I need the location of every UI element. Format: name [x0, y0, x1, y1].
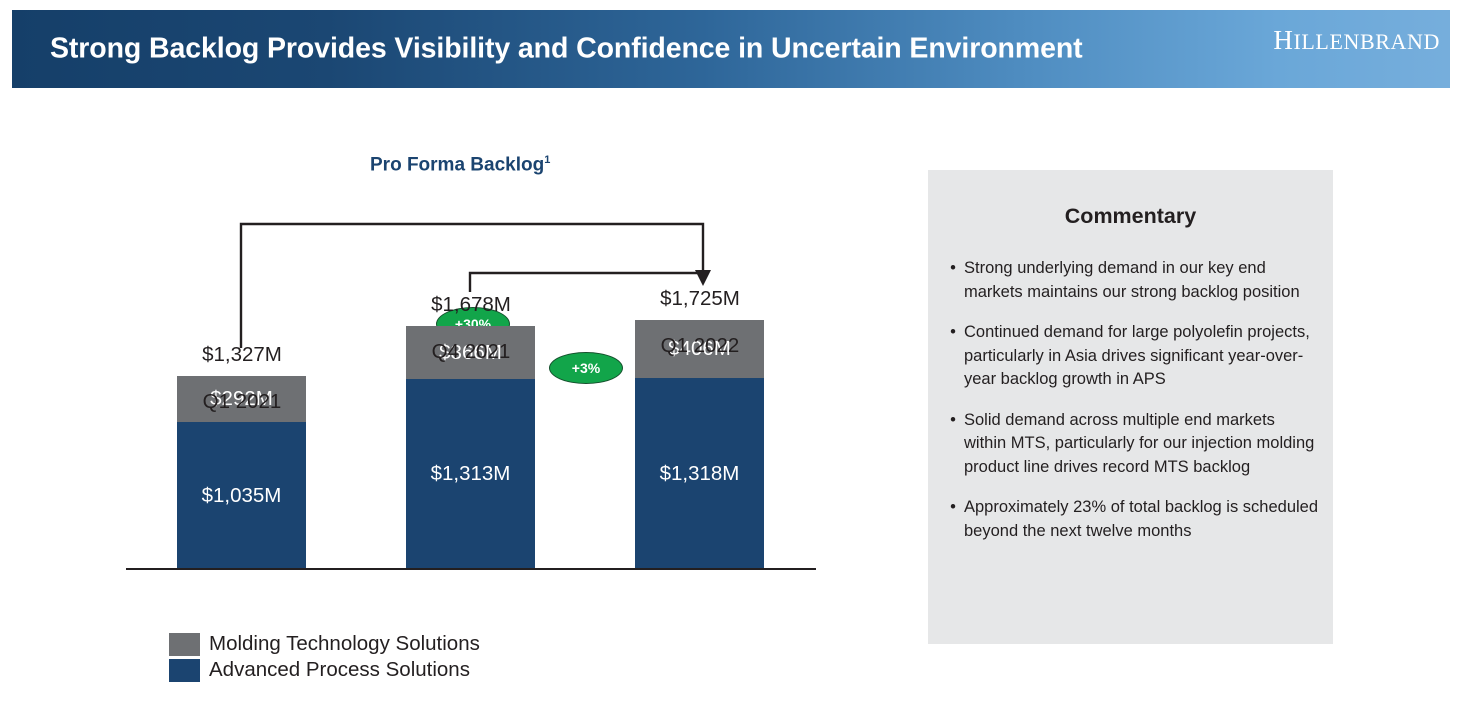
legend-swatch-mts: [169, 633, 200, 656]
logo-rest: ILLENBRAND: [1293, 29, 1440, 54]
logo-initial: H: [1273, 25, 1293, 55]
commentary-panel: Commentary • Strong underlying demand in…: [928, 170, 1333, 644]
legend-item-aps[interactable]: Advanced Process Solutions: [169, 658, 480, 682]
growth-badge-qoq: +3%: [549, 352, 623, 384]
list-item: • Approximately 23% of total backlog is …: [942, 496, 1321, 543]
chart-x-axis: [126, 568, 816, 570]
page-title: Strong Backlog Provides Visibility and C…: [50, 33, 1083, 66]
bar-q4-2021[interactable]: $1,678M $366M $1,313M Q4 2021: [406, 326, 535, 569]
bar-segment-aps-q4-2021: $1,313M: [406, 379, 535, 569]
commentary-bullet-4: Approximately 23% of total backlog is sc…: [964, 496, 1321, 543]
bar-segment-aps-q1-2021: $1,035M: [177, 422, 306, 569]
hillenbrand-logo: HILLENBRAND: [1273, 27, 1440, 54]
list-item: • Strong underlying demand in our key en…: [942, 257, 1321, 304]
bar-category-label-q4-2021: Q4 2021: [391, 340, 551, 364]
commentary-bullet-3: Solid demand across multiple end markets…: [964, 409, 1321, 480]
legend-label-aps: Advanced Process Solutions: [209, 658, 470, 682]
bar-total-label-q1-2022: $1,725M: [620, 287, 780, 311]
chart-legend: Molding Technology Solutions Advanced Pr…: [169, 632, 480, 684]
bullet-icon: •: [942, 496, 964, 543]
bar-category-label-q1-2022: Q1 2022: [620, 334, 780, 358]
bar-category-label-q1-2021: Q1 2021: [162, 390, 322, 414]
bullet-icon: •: [942, 409, 964, 480]
commentary-bullet-2: Continued demand for large polyolefin pr…: [964, 321, 1321, 392]
commentary-bullet-list: • Strong underlying demand in our key en…: [942, 257, 1321, 560]
bullet-icon: •: [942, 321, 964, 392]
legend-item-mts[interactable]: Molding Technology Solutions: [169, 632, 480, 656]
bar-q1-2022[interactable]: $1,725M $406M $1,318M Q1 2022: [635, 320, 764, 569]
list-item: • Solid demand across multiple end marke…: [942, 409, 1321, 480]
slide-header-band: Strong Backlog Provides Visibility and C…: [12, 10, 1450, 88]
legend-label-mts: Molding Technology Solutions: [209, 632, 480, 656]
legend-swatch-aps: [169, 659, 200, 682]
bar-total-label-q1-2021: $1,327M: [162, 343, 322, 367]
bullet-icon: •: [942, 257, 964, 304]
commentary-bullet-1: Strong underlying demand in our key end …: [964, 257, 1321, 304]
commentary-heading: Commentary: [928, 204, 1333, 229]
bar-segment-aps-q1-2022: $1,318M: [635, 378, 764, 569]
bar-q1-2021[interactable]: $1,327M $292M $1,035M Q1 2021: [177, 376, 306, 569]
list-item: • Continued demand for large polyolefin …: [942, 321, 1321, 392]
bar-total-label-q4-2021: $1,678M: [391, 293, 551, 317]
